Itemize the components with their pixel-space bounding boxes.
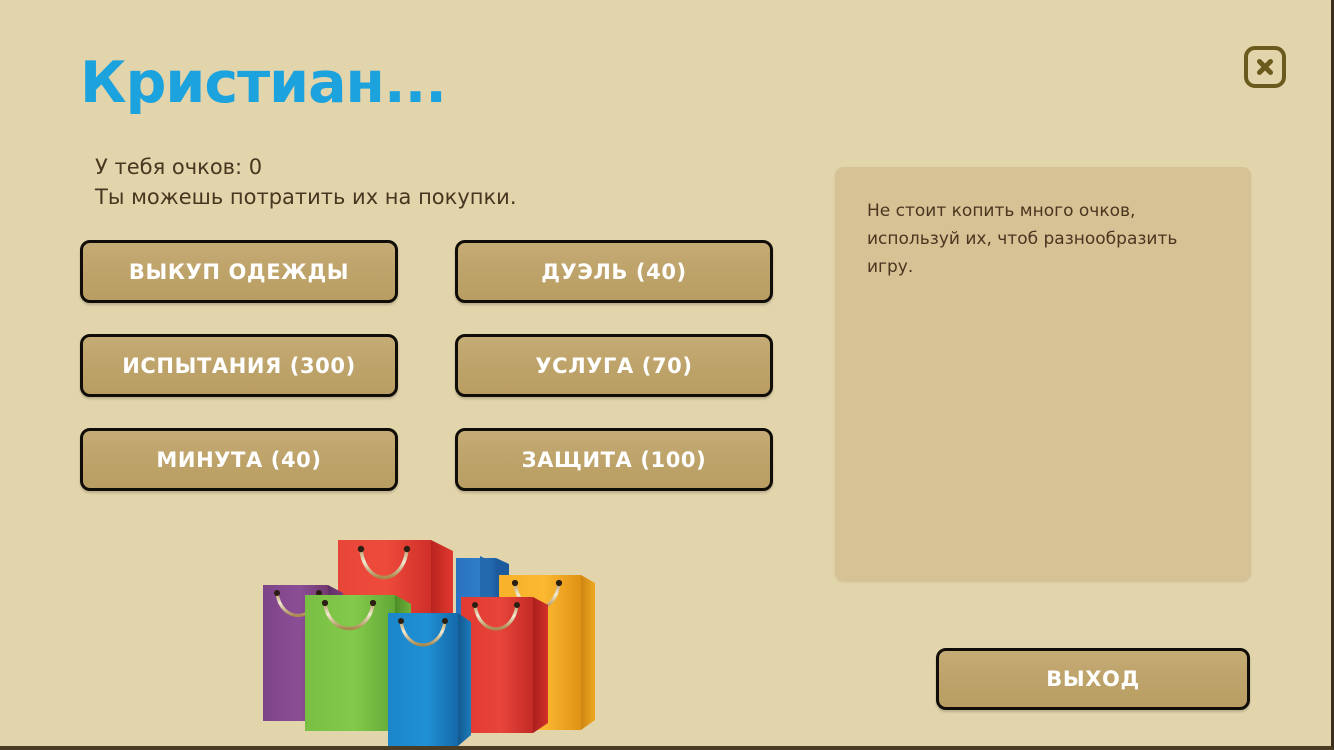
exit-button[interactable]: ВЫХОД	[936, 648, 1250, 710]
bag-blue-front	[388, 613, 471, 746]
buy-clothes-button[interactable]: ВЫКУП ОДЕЖДЫ	[80, 240, 398, 303]
trials-button[interactable]: ИСПЫТАНИЯ (300)	[80, 334, 398, 397]
protection-button[interactable]: ЗАЩИТА (100)	[455, 428, 773, 491]
points-summary: У тебя очков: 0 Ты можешь потратить их н…	[95, 152, 517, 212]
service-button[interactable]: УСЛУГА (70)	[455, 334, 773, 397]
info-panel: Не стоит копить много очков, используй и…	[835, 167, 1251, 581]
minute-button[interactable]: МИНУТА (40)	[80, 428, 398, 491]
bag-red-right	[461, 597, 548, 733]
shop-screen: Кристиан... У тебя очков: 0 Ты можешь по…	[0, 0, 1334, 750]
hint-line: Ты можешь потратить их на покупки.	[95, 182, 517, 212]
shopping-bags-illustration	[243, 525, 623, 750]
points-line: У тебя очков: 0	[95, 152, 517, 182]
info-panel-text: Не стоит копить много очков, используй и…	[867, 197, 1217, 281]
close-x-icon	[1254, 56, 1276, 78]
duel-button[interactable]: ДУЭЛЬ (40)	[455, 240, 773, 303]
close-button[interactable]	[1244, 46, 1286, 88]
page-title: Кристиан...	[80, 52, 446, 114]
